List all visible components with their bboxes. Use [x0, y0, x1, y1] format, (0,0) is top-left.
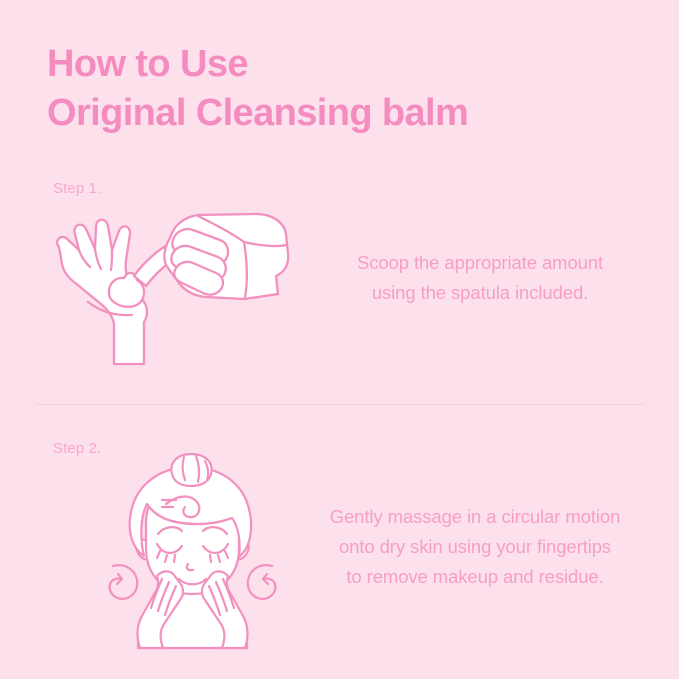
step-2-text-line-1: Gently massage in a circular motion	[300, 502, 650, 532]
step-2-section: Step 2.	[0, 440, 679, 650]
how-to-use-infographic: How to Use Original Cleansing balm Step …	[0, 0, 679, 679]
title-line-1: How to Use	[47, 40, 647, 89]
step-1-text-line-2: using the spatula included.	[320, 278, 640, 308]
swirl-right	[248, 565, 276, 599]
woman-massaging-face-icon	[100, 452, 285, 657]
title-line-2: Original Cleansing balm	[47, 89, 647, 138]
step-1-section: Step 1.	[0, 180, 679, 390]
step-1-label: Step 1.	[53, 180, 101, 197]
swirl-left	[110, 565, 138, 599]
step-2-label: Step 2.	[53, 440, 101, 457]
section-divider	[35, 404, 645, 405]
step-2-text: Gently massage in a circular motion onto…	[300, 502, 650, 592]
step-1-text-line-1: Scoop the appropriate amount	[320, 248, 640, 278]
step-2-text-line-2: onto dry skin using your fingertips	[300, 532, 650, 562]
page-title: How to Use Original Cleansing balm	[47, 40, 647, 138]
step-2-text-line-3: to remove makeup and residue.	[300, 562, 650, 592]
hand-scooping-balm-with-spatula-icon	[48, 198, 298, 378]
step-1-text: Scoop the appropriate amount using the s…	[320, 248, 640, 308]
